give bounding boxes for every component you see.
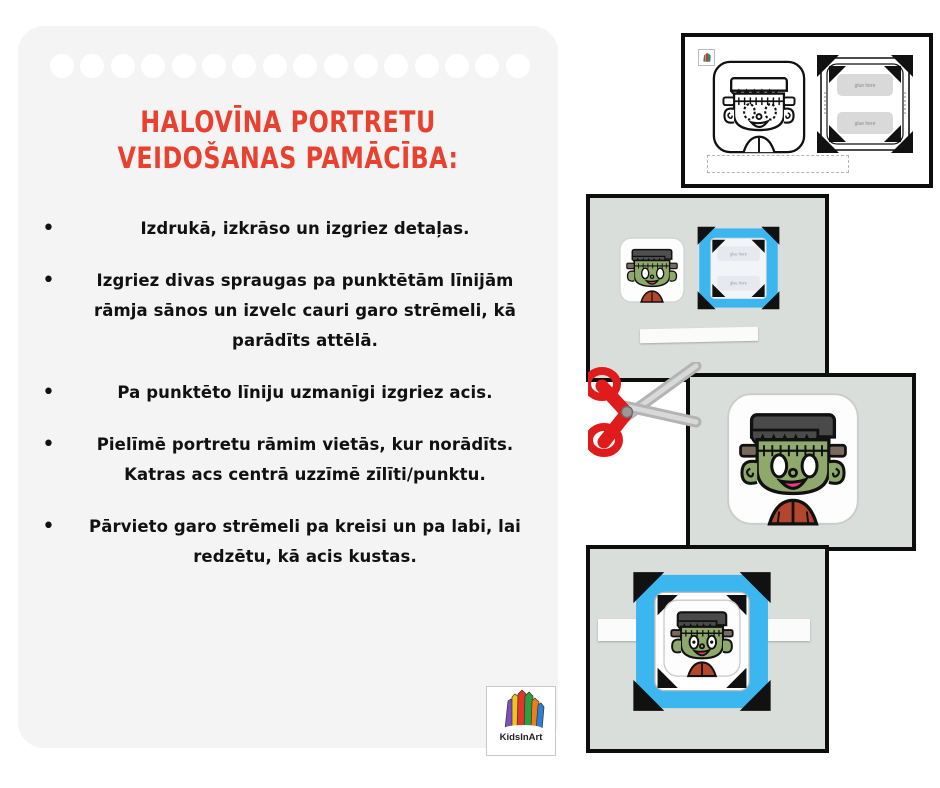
step-text-3: Pa punktēto līniju uzmanīgi izgriez acis…	[68, 378, 542, 408]
svg-text:glue here: glue here	[730, 281, 748, 286]
steps-list: • Izdrukā, izkrāso un izgriez detaļas. •…	[42, 214, 542, 594]
bullet-marker-icon: •	[42, 266, 68, 296]
svg-text:glue here: glue here	[730, 251, 748, 256]
decorative-dot	[232, 54, 256, 78]
title-line-2: VEIDOŠANAS PAMĀCĪBA:	[67, 140, 510, 176]
finished-craft-photo	[586, 545, 829, 753]
page-title: HALOVĪNA PORTRETU VEIDOŠANAS PAMĀCĪBA:	[18, 104, 558, 176]
decorative-dot	[415, 54, 439, 78]
paper-strip	[640, 327, 758, 343]
list-item: • Pa punktēto līniju uzmanīgi izgriez ac…	[42, 378, 542, 408]
step-text-1: Izdrukā, izkrāso un izgriez detaļas.	[68, 214, 542, 244]
decorative-dot	[506, 54, 530, 78]
kidsinart-logo: KidsInArt	[486, 686, 556, 756]
bullet-marker-icon: •	[42, 512, 68, 542]
lineart-picture-frame: glue here glue here	[813, 52, 917, 157]
coloured-frankenstein-portrait	[724, 389, 862, 529]
decorative-dot	[384, 54, 408, 78]
decorative-dot	[202, 54, 226, 78]
decorative-dots-row	[50, 53, 530, 79]
lineart-paper-strip	[707, 155, 849, 173]
coloured-portrait-photo	[686, 373, 916, 551]
decorative-dot	[324, 54, 348, 78]
title-line-1: HALOVĪNA PORTRETU	[67, 104, 510, 140]
step-text-4: Pielīmē portretu rāmim vietās, kur norād…	[68, 430, 542, 490]
coloured-pencils-icon	[495, 689, 547, 733]
decorative-dot	[50, 54, 74, 78]
decorative-dot	[111, 54, 135, 78]
decorative-dot	[354, 54, 378, 78]
lineart-frankenstein-face	[711, 59, 807, 155]
decorative-dot	[80, 54, 104, 78]
list-item: • Pielīmē portretu rāmim vietās, kur nor…	[42, 430, 542, 490]
step-text-2: Izgriez divas spraugas pa punktētām līni…	[68, 266, 542, 356]
scissors-clipart	[588, 362, 706, 457]
kidsinart-logo-label: KidsInArt	[500, 732, 543, 743]
decorative-dot	[141, 54, 165, 78]
svg-text:glue here: glue here	[855, 83, 876, 89]
list-item: • Pārvieto garo strēmeli pa kreisi un pa…	[42, 512, 542, 572]
bullet-marker-icon: •	[42, 214, 68, 244]
decorative-dot	[172, 54, 196, 78]
printable-template-page: glue here glue here	[681, 33, 933, 188]
decorative-dot	[293, 54, 317, 78]
bullet-marker-icon: •	[42, 378, 68, 408]
step-text-5: Pārvieto garo strēmeli pa kreisi un pa l…	[68, 512, 542, 572]
cut-out-pieces-photo: glue here glue here	[586, 194, 829, 382]
list-item: • Izdrukā, izkrāso un izgriez detaļas.	[42, 214, 542, 244]
decorative-dot	[475, 54, 499, 78]
decorative-dot	[445, 54, 469, 78]
decorative-dot	[263, 54, 287, 78]
instruction-card: HALOVĪNA PORTRETU VEIDOŠANAS PAMĀCĪBA: •…	[18, 26, 558, 748]
coloured-frame-cutout: glue here glue here	[696, 224, 781, 312]
list-item: • Izgriez divas spraugas pa punktētām lī…	[42, 266, 542, 356]
finished-framed-portrait	[632, 569, 772, 714]
bullet-marker-icon: •	[42, 430, 68, 460]
svg-text:glue here: glue here	[855, 121, 876, 127]
coloured-face-cutout-small	[618, 236, 686, 304]
